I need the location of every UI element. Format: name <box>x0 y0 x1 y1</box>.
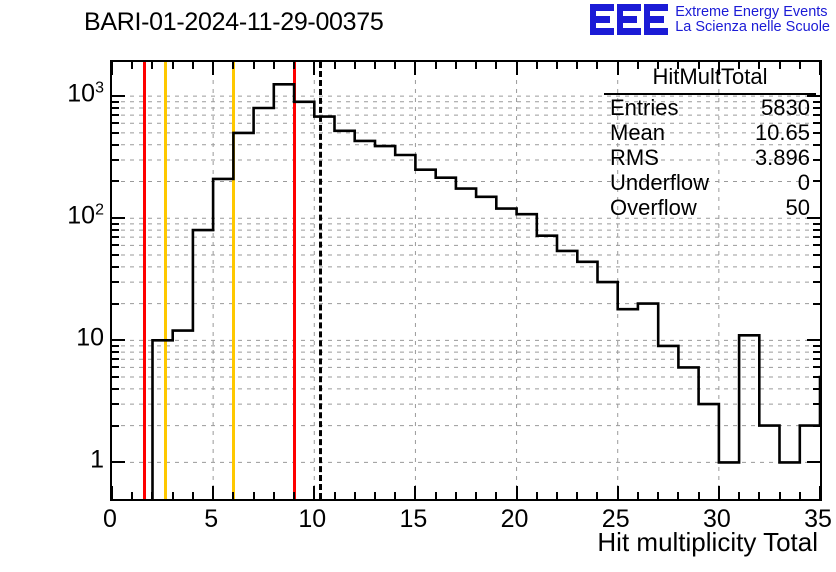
x-tick <box>192 62 194 69</box>
x-tick <box>698 492 700 499</box>
x-tick <box>394 62 396 69</box>
y-tick <box>807 339 820 341</box>
x-tick <box>232 492 234 499</box>
y-tick <box>807 461 820 463</box>
y-tick <box>813 229 820 231</box>
x-tick <box>536 62 538 69</box>
x-tick <box>192 492 194 499</box>
x-tick <box>819 62 821 75</box>
stats-row-value: 10.65 <box>755 120 810 145</box>
y-tick <box>112 223 119 225</box>
y-tick <box>813 244 820 246</box>
y-tick <box>112 132 119 134</box>
stats-row: Underflow0 <box>604 170 816 195</box>
y-tick <box>112 244 119 246</box>
x-tick <box>637 492 639 499</box>
x-tick <box>576 492 578 499</box>
stats-box: HitMultTotal Entries5830Mean10.65RMS3.89… <box>604 62 816 220</box>
x-tick <box>172 492 174 499</box>
y-tick-label: 102 <box>67 202 104 231</box>
x-tick <box>758 492 760 499</box>
y-tick <box>112 236 119 238</box>
x-tick <box>414 486 416 499</box>
x-tick <box>475 62 477 69</box>
eee-logo: Extreme Energy Events La Scienza nelle S… <box>590 4 830 35</box>
stats-rows: Entries5830Mean10.65RMS3.896Underflow0Ov… <box>604 95 816 220</box>
y-tick <box>112 101 119 103</box>
y-tick <box>813 345 820 347</box>
page-title: BARI-01-2024-11-29-00375 <box>84 8 383 37</box>
x-tick <box>313 62 315 75</box>
x-tick-label: 35 <box>804 505 832 534</box>
stats-row-value: 50 <box>786 195 810 220</box>
x-tick <box>111 62 113 75</box>
x-tick <box>536 492 538 499</box>
x-tick <box>516 62 518 75</box>
x-tick <box>354 62 356 69</box>
stats-row-value: 0 <box>798 170 810 195</box>
y-tick <box>813 388 820 390</box>
y-tick <box>112 122 119 124</box>
x-tick <box>212 62 214 75</box>
stats-row: Overflow50 <box>604 195 816 220</box>
stats-row-label: Underflow <box>610 170 709 195</box>
x-tick <box>677 492 679 499</box>
y-tick <box>112 266 119 268</box>
x-tick <box>313 486 315 499</box>
y-tick <box>112 254 119 256</box>
y-tick <box>112 303 119 305</box>
stats-row-label: Entries <box>610 95 678 120</box>
y-tick <box>813 281 820 283</box>
y-tick <box>813 366 820 368</box>
x-tick <box>617 486 619 499</box>
x-tick <box>232 62 234 69</box>
x-tick <box>657 492 659 499</box>
y-tick-label: 103 <box>67 80 104 109</box>
y-tick <box>112 229 119 231</box>
y-tick <box>813 303 820 305</box>
x-tick <box>374 492 376 499</box>
x-tick <box>516 486 518 499</box>
stats-row: Mean10.65 <box>604 120 816 145</box>
x-tick <box>172 62 174 69</box>
stats-row-label: Overflow <box>610 195 697 220</box>
x-tick <box>596 62 598 69</box>
x-tick <box>495 492 497 499</box>
x-tick <box>576 62 578 69</box>
logo-line-2: La Scienza nelle Scuole <box>675 20 830 35</box>
x-tick <box>151 492 153 499</box>
x-tick <box>273 492 275 499</box>
x-tick <box>131 62 133 69</box>
x-tick-label: 30 <box>703 505 731 534</box>
x-tick <box>374 62 376 69</box>
x-tick <box>799 492 801 499</box>
y-tick <box>112 107 119 109</box>
y-tick <box>813 425 820 427</box>
y-tick <box>813 403 820 405</box>
x-tick <box>455 492 457 499</box>
x-tick <box>819 486 821 499</box>
y-tick <box>112 114 119 116</box>
y-tick <box>112 376 119 378</box>
x-tick <box>334 492 336 499</box>
y-tick <box>813 254 820 256</box>
y-tick <box>112 366 119 368</box>
letter-e-icon <box>617 4 641 35</box>
stats-row-value: 5830 <box>761 95 810 120</box>
y-tick <box>112 388 119 390</box>
stats-row-label: RMS <box>610 145 659 170</box>
x-tick <box>354 492 356 499</box>
x-tick <box>151 62 153 69</box>
x-tick <box>475 492 477 499</box>
y-tick-label: 10 <box>76 324 104 353</box>
x-tick <box>212 486 214 499</box>
y-tick <box>112 358 119 360</box>
y-tick <box>813 223 820 225</box>
x-tick-label: 20 <box>501 505 529 534</box>
y-tick <box>112 403 119 405</box>
y-tick <box>813 351 820 353</box>
x-tick <box>738 492 740 499</box>
y-tick <box>112 339 125 341</box>
y-tick <box>813 358 820 360</box>
y-tick <box>112 144 119 146</box>
y-tick <box>112 425 119 427</box>
x-tick <box>394 492 396 499</box>
y-tick <box>112 351 119 353</box>
x-tick-label: 5 <box>204 505 218 534</box>
y-tick <box>112 461 125 463</box>
x-tick <box>495 62 497 69</box>
x-tick <box>556 492 558 499</box>
x-tick-label: 25 <box>602 505 630 534</box>
y-tick <box>112 345 119 347</box>
y-tick-label: 1 <box>90 446 104 475</box>
x-tick <box>435 492 437 499</box>
eee-logo-text: Extreme Energy Events La Scienza nelle S… <box>675 4 830 35</box>
y-tick <box>112 95 125 97</box>
x-tick <box>455 62 457 69</box>
x-tick <box>131 492 133 499</box>
stats-title: HitMultTotal <box>604 62 816 95</box>
y-tick <box>813 266 820 268</box>
y-tick <box>112 180 119 182</box>
x-tick-label: 15 <box>400 505 428 534</box>
x-tick <box>556 62 558 69</box>
x-tick <box>293 492 295 499</box>
letter-e-icon <box>644 4 668 35</box>
x-tick <box>435 62 437 69</box>
y-tick <box>112 217 125 219</box>
x-tick <box>414 62 416 75</box>
y-tick <box>112 281 119 283</box>
x-tick <box>253 62 255 69</box>
stats-row-label: Mean <box>610 120 665 145</box>
stats-row: RMS3.896 <box>604 145 816 170</box>
x-tick-label: 0 <box>103 505 117 534</box>
y-tick <box>813 376 820 378</box>
stats-row-value: 3.896 <box>755 145 810 170</box>
x-tick <box>334 62 336 69</box>
x-tick <box>273 62 275 69</box>
x-tick <box>779 492 781 499</box>
stats-row: Entries5830 <box>604 95 816 120</box>
x-tick <box>293 62 295 69</box>
y-tick <box>813 236 820 238</box>
x-tick <box>596 492 598 499</box>
x-tick <box>253 492 255 499</box>
logo-line-1: Extreme Energy Events <box>675 5 830 20</box>
letter-e-icon <box>590 4 614 35</box>
y-tick <box>112 159 119 161</box>
x-tick <box>718 486 720 499</box>
x-tick <box>111 486 113 499</box>
x-tick-label: 10 <box>298 505 326 534</box>
eee-logo-mark <box>590 4 668 35</box>
